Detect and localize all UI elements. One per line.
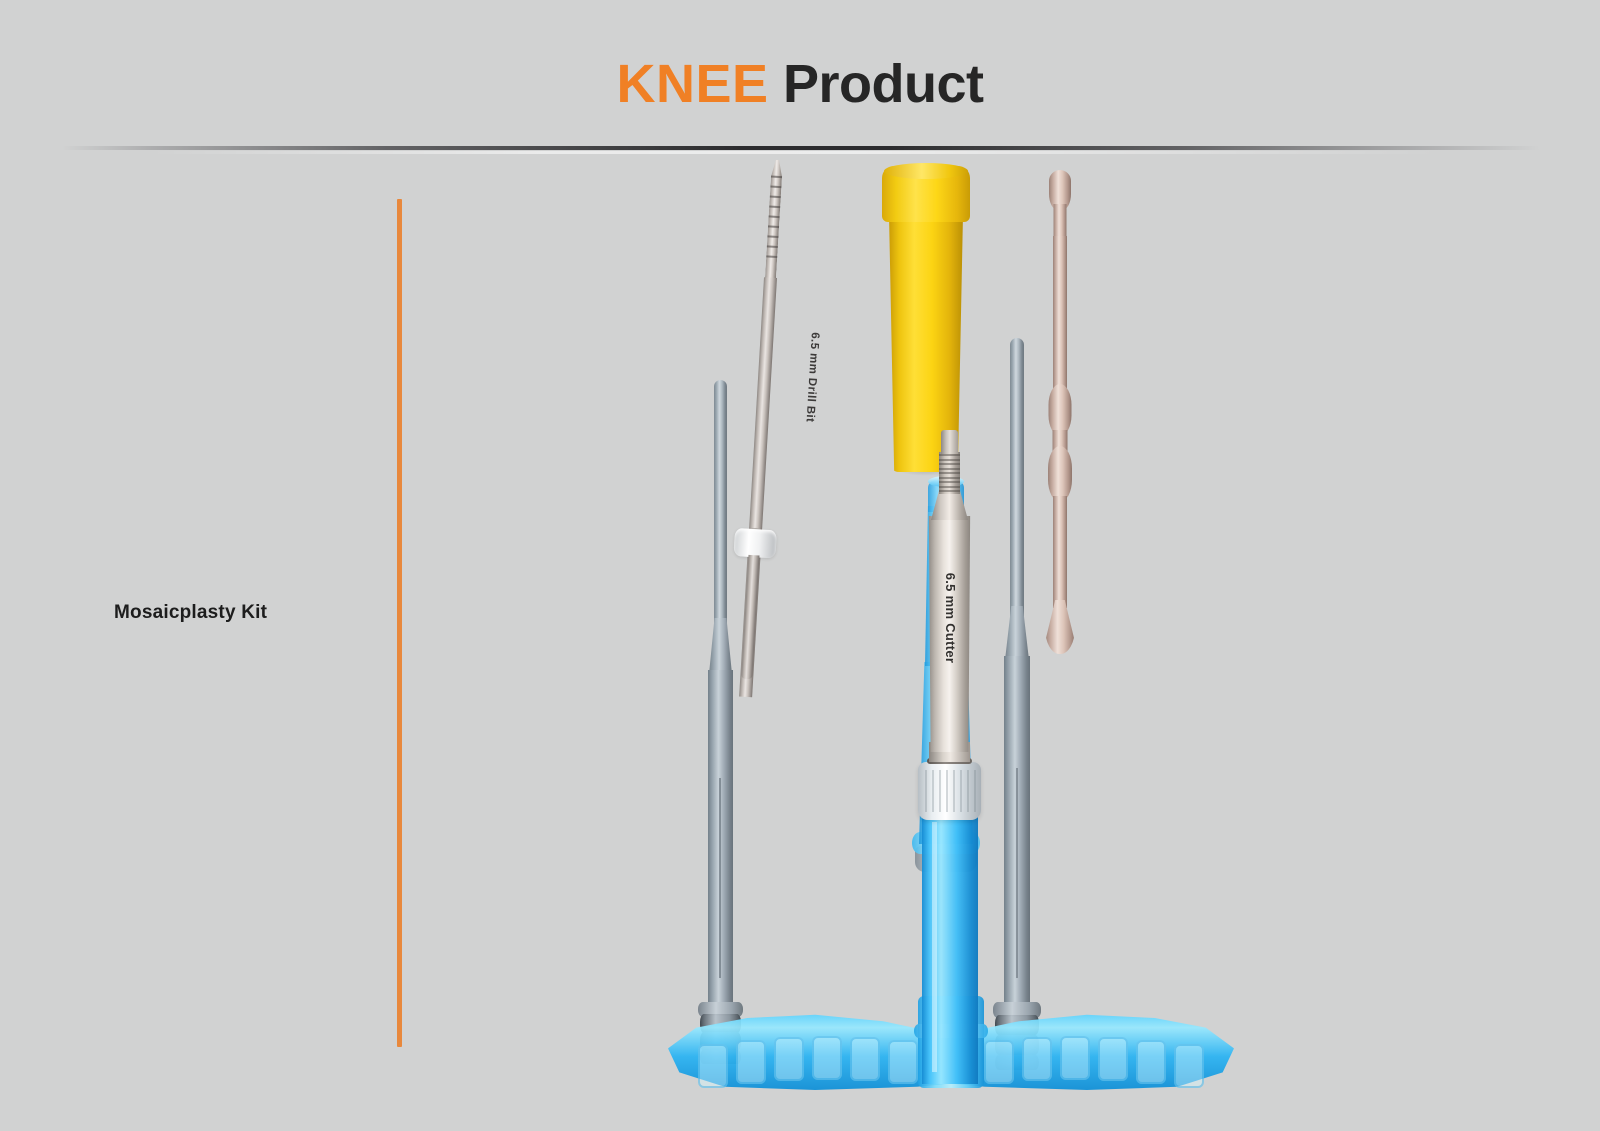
yellow-tube-cap-rim [884,163,968,179]
cutter-knurled-collar [939,452,960,494]
cutter-knurl-line [939,468,960,470]
page-title: KNEE Product [0,52,1600,116]
drill-bit-graduation-mark [768,225,779,228]
cutter-handle-rib [1136,1040,1166,1084]
cutter-handle-rib [984,1040,1014,1084]
cutter-knurl-line [939,486,960,488]
product-image-stage: 6.5 mm Drill Bit [620,150,1180,1090]
cutter-knurl-line [939,454,960,456]
cutter-handle-rib [698,1044,728,1088]
cutter-blue-shaft [922,816,978,1084]
drill-bit-graduation-mark [770,185,781,188]
drill-bit-depth-graduations [766,175,782,267]
cutter-handle-rib [774,1037,804,1081]
drill-bit-graduation-mark [770,195,781,198]
vertical-accent-divider [397,199,402,1047]
bronze-tamp-upper-rod [1053,236,1067,396]
cutter-ferrule-grip-line [967,770,969,812]
cutter-ferrule-grip-line [932,770,934,812]
cutter-ferrule-grip-line [946,770,948,812]
cutter-shaft-highlight [932,822,937,1072]
instrument-yellow-tube [882,166,978,472]
cutter-handle-rib [812,1036,842,1080]
drill-bit-graduation-mark [767,245,778,248]
cutter-ferrule-grip-line [925,770,927,812]
cutter-knurl-line [939,490,960,492]
cutter-handle-rib [1060,1036,1090,1080]
drill-bit-graduation-mark [767,235,778,238]
cutter-handle-rib [1022,1037,1052,1081]
drill-bit-engraving: 6.5 mm Drill Bit [800,312,822,443]
cutter-ferrule-grip-line [939,770,941,812]
cutter-knurl-line [939,477,960,479]
page-title-rest: Product [769,54,984,114]
drill-bit-graduation-mark [771,175,782,178]
cutter-ferrule-grip-line [974,770,976,812]
page-header: KNEE Product [0,0,1600,150]
bronze-tamp-upper-bulge [1049,384,1072,436]
drill-bit-graduation-mark [766,255,777,258]
cutter-shoulder [931,490,968,520]
cutter-tip [941,430,958,454]
page-title-accent: KNEE [616,54,768,114]
cutter-handle-rib [888,1040,918,1084]
cutter-engraving: 6.5 mm Cutter [942,554,958,682]
cutter-knurl-line [939,472,960,474]
cutter-knurl-line [939,481,960,483]
cutter-white-ferrule [918,762,981,820]
cutter-ferrule-grip-line [960,770,962,812]
cutter-handle-rib [1098,1037,1128,1081]
drill-bit-graduation-mark [769,205,780,208]
cutter-handle-rib [1174,1044,1204,1088]
drill-bit-graduation-mark [769,215,780,218]
cutter-knurl-line [939,463,960,465]
cutter-knurl-line [939,459,960,461]
product-caption-label: Mosaicplasty Kit [114,602,267,624]
cutter-handle-rib [736,1040,766,1084]
cutter-handle-rib [850,1037,880,1081]
cutter-ferrule-grip-line [953,770,955,812]
drill-bit-depth-stop-collar [733,528,777,558]
instrument-cutter: 6.5 mm Cutter [790,430,1120,1080]
grey-tamp-left-groove [719,778,721,978]
